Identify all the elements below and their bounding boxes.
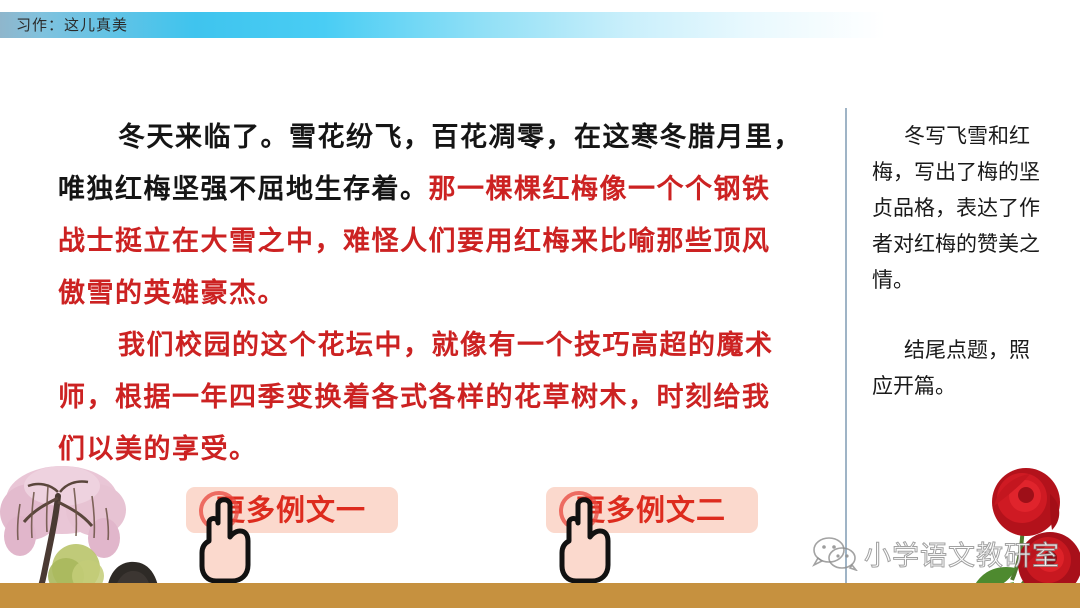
ground-strip — [0, 583, 1080, 608]
essay-line-3-segment-1: 战士挺立在大雪之中，难怪人们要用红梅来比喻那些顶风 — [58, 226, 771, 257]
page-title: 习作：这儿真美 — [16, 12, 128, 38]
annotation-2: 结尾点题，照应开篇。 — [872, 332, 1050, 404]
wechat-icon — [812, 537, 858, 571]
essay-line-6: 师，根据一年四季变换着各式各样的花草树木，时刻给我 — [58, 372, 848, 424]
essay-line-4: 傲雪的英雄豪杰。 — [58, 268, 848, 320]
essay-line-2: 唯独红梅坚强不屈地生存着。那一棵棵红梅像一个个钢铁 — [58, 164, 848, 216]
essay-line-2-segment-2: 那一棵棵红梅像一个个钢铁 — [429, 174, 771, 205]
essay-line-5: 我们校园的这个花坛中，就像有一个技巧高超的魔术 — [58, 320, 848, 372]
header-gradient-bar — [0, 12, 1080, 38]
essay-body: 冬天来临了。雪花纷飞，百花凋零，在这寒冬腊月里，唯独红梅坚强不屈地生存着。那一棵… — [58, 112, 848, 476]
essay-line-2-segment-1: 唯独红梅坚强不屈地生存着。 — [58, 174, 429, 205]
annotation-column: 冬写飞雪和红梅，写出了梅的坚贞品格，表达了作者对红梅的赞美之情。结尾点题，照应开… — [872, 118, 1072, 404]
pointing-hand-icon-2 — [556, 493, 618, 585]
essay-line-4-segment-1: 傲雪的英雄豪杰。 — [58, 278, 286, 309]
essay-line-7: 们以美的享受。 — [58, 424, 848, 476]
annotation-1: 冬写飞雪和红梅，写出了梅的坚贞品格，表达了作者对红梅的赞美之情。 — [872, 118, 1050, 298]
pointing-hand-icon-1 — [196, 493, 258, 585]
essay-line-6-segment-1: 师，根据一年四季变换着各式各样的花草树木，时刻给我 — [58, 382, 771, 413]
essay-line-1-segment-1: 冬天来临了。雪花纷飞，百花凋零，在这寒冬腊月里， — [118, 122, 802, 153]
essay-line-5-segment-1: 我们校园的这个花坛中，就像有一个技巧高超的魔术 — [118, 330, 774, 361]
slide-canvas: 习作：这儿真美 冬天来临了。雪花纷飞，百花凋零，在这寒冬腊月里，唯独红梅坚强不屈… — [0, 0, 1080, 608]
essay-line-1: 冬天来临了。雪花纷飞，百花凋零，在这寒冬腊月里， — [58, 112, 848, 164]
essay-line-3: 战士挺立在大雪之中，难怪人们要用红梅来比喻那些顶风 — [58, 216, 848, 268]
